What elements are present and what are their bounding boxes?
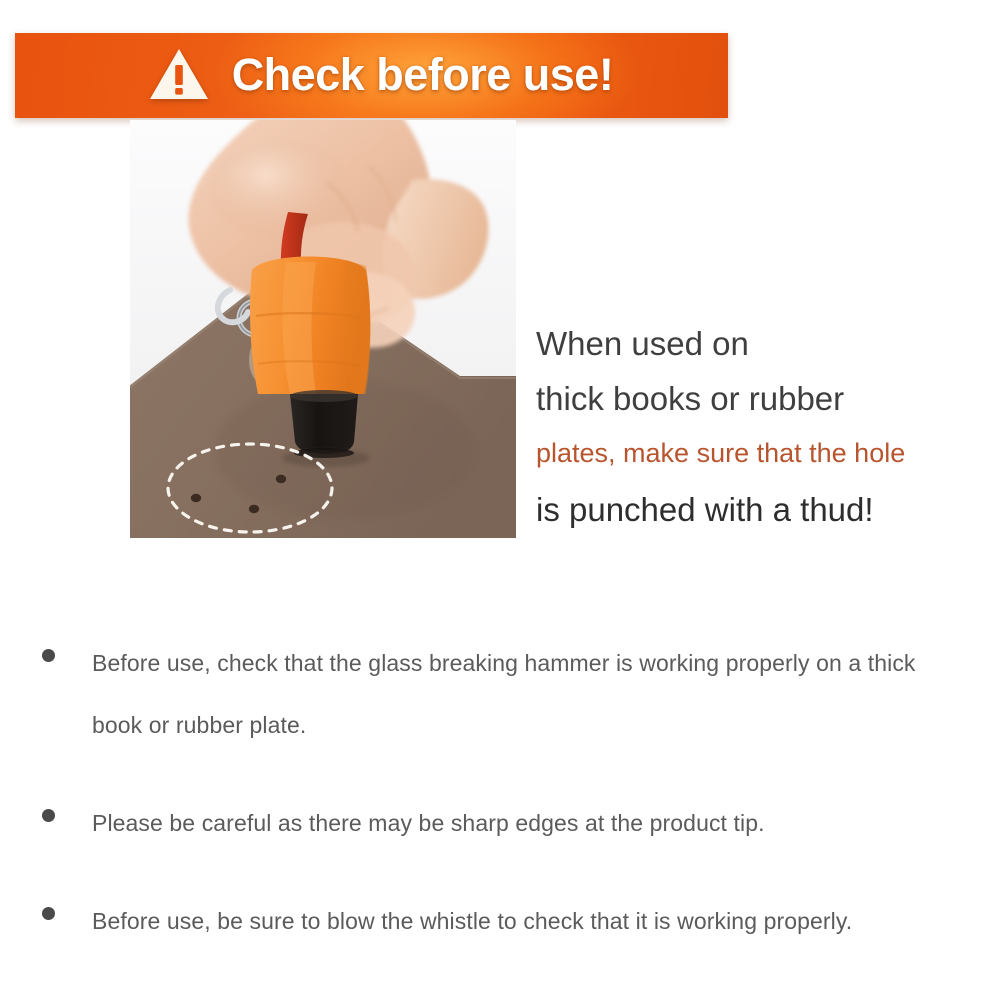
punched-hole bbox=[276, 475, 286, 483]
photo-illustration bbox=[130, 120, 516, 538]
list-item-text: Before use, check that the glass breakin… bbox=[92, 650, 916, 738]
hammer-tip bbox=[290, 394, 358, 454]
product-photo bbox=[130, 120, 516, 538]
list-item-text: Please be careful as there may be sharp … bbox=[92, 810, 765, 836]
punched-hole bbox=[191, 494, 201, 502]
callout-line-2: thick books or rubber bbox=[536, 371, 986, 426]
bullet-dot-icon bbox=[42, 907, 55, 920]
bullet-dot-icon bbox=[42, 649, 55, 662]
callout-line-1: When used on bbox=[536, 316, 986, 371]
banner-title: Check before use! bbox=[232, 52, 614, 97]
callout-line-4: is punched with a thud! bbox=[536, 481, 986, 539]
list-item: Please be careful as there may be sharp … bbox=[40, 792, 960, 854]
list-item-text: Before use, be sure to blow the whistle … bbox=[92, 908, 852, 934]
bullet-dot-icon bbox=[42, 809, 55, 822]
punched-hole bbox=[249, 505, 259, 513]
list-item: Before use, check that the glass breakin… bbox=[40, 632, 960, 756]
list-item: Before use, be sure to blow the whistle … bbox=[40, 890, 960, 952]
warning-banner: Check before use! bbox=[15, 33, 728, 118]
callout-line-3-highlight: plates, make sure that the hole bbox=[536, 426, 986, 481]
callout-text-block: When used on thick books or rubber plate… bbox=[536, 316, 986, 539]
precaution-list: Before use, check that the glass breakin… bbox=[40, 632, 960, 988]
banner-content: Check before use! bbox=[148, 47, 614, 102]
warning-triangle-icon bbox=[148, 47, 210, 102]
